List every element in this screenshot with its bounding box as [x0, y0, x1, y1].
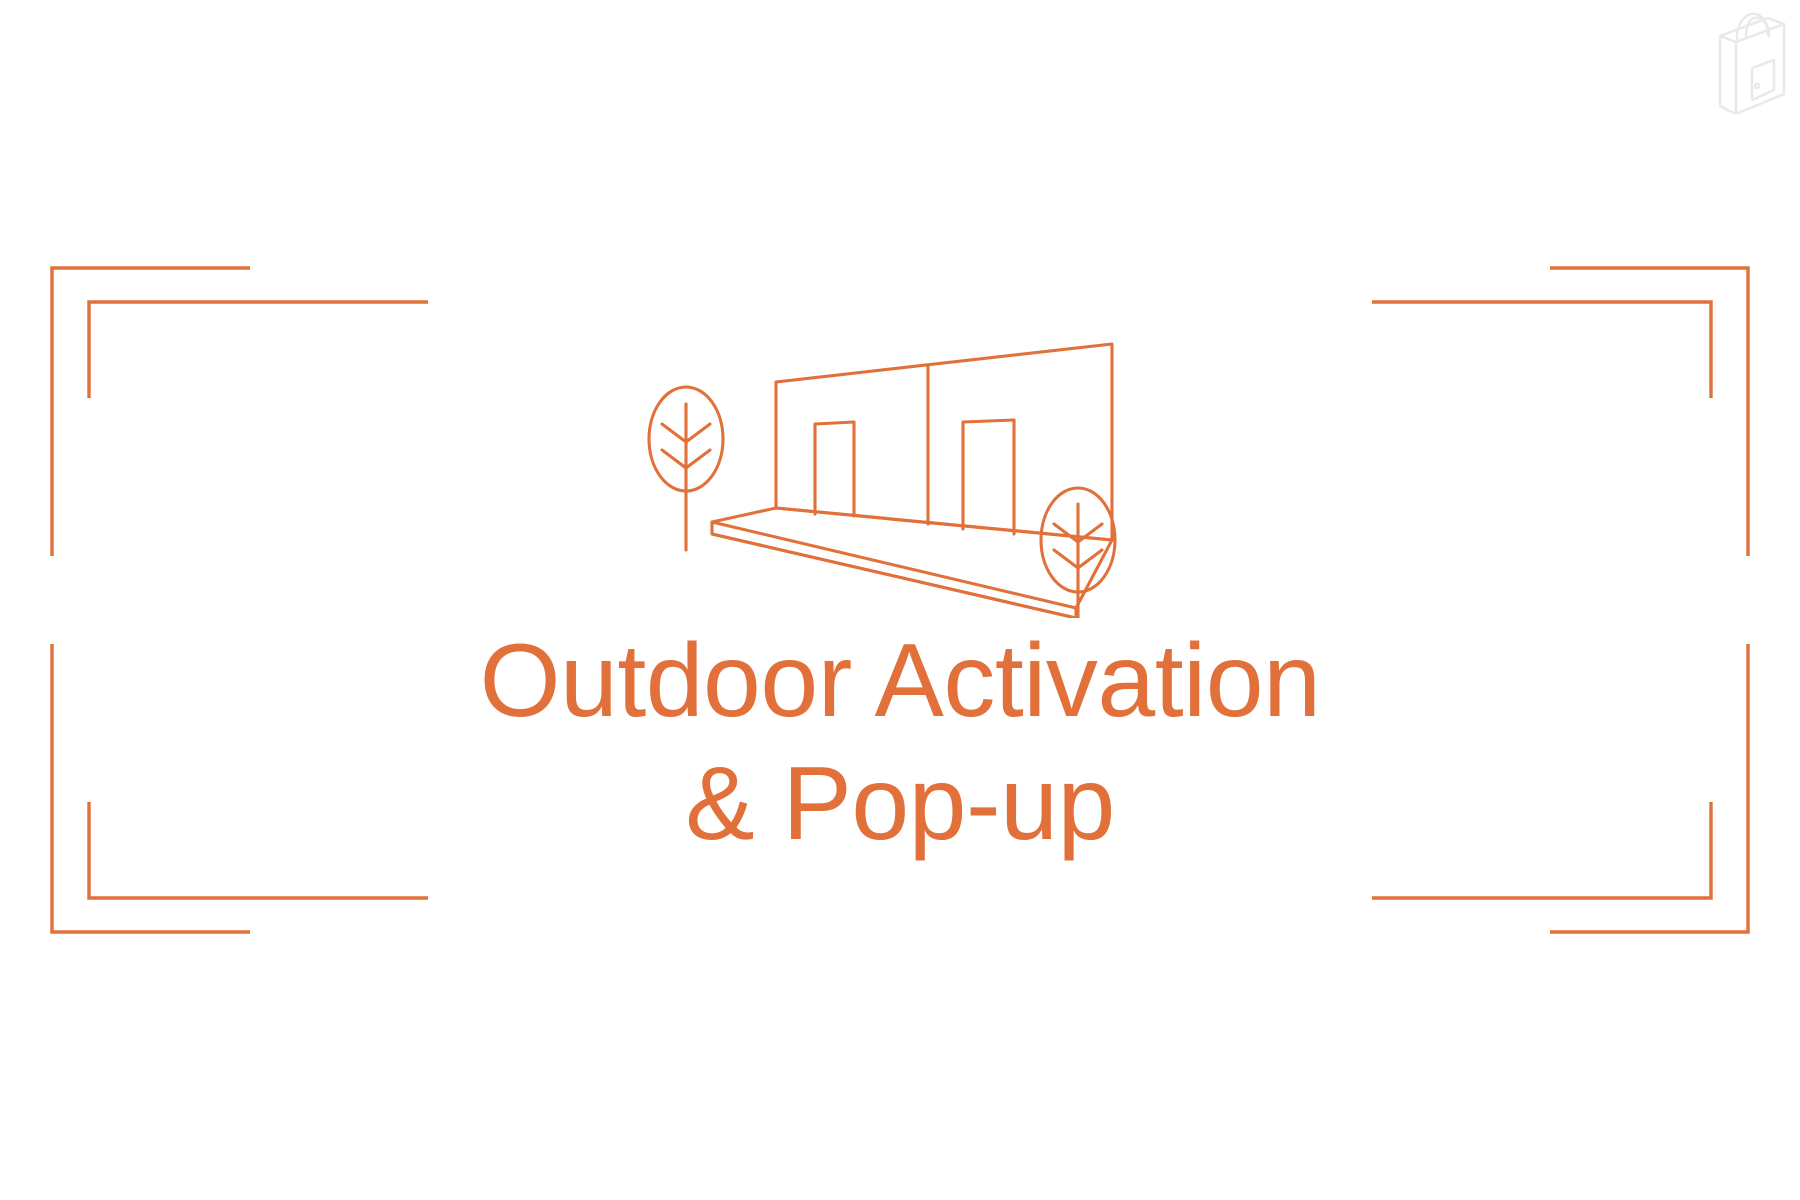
storefront-line-art — [640, 318, 1160, 618]
right-door-opening — [963, 420, 1014, 534]
deck-top-surface — [712, 508, 1112, 608]
storefront-wall — [776, 344, 1112, 540]
bracket-top-right-outer — [1550, 268, 1748, 556]
bracket-top-right-inner — [1372, 302, 1711, 398]
title-line-1: Outdoor Activation — [0, 620, 1800, 743]
left-tree-branch-3 — [662, 450, 686, 468]
title-line-2: & Pop-up — [0, 743, 1800, 866]
outdoor-storefront-illustration — [640, 318, 1160, 618]
shopping-bag-logo — [1696, 6, 1792, 114]
right-tree-branch-1 — [1054, 524, 1078, 542]
bracket-top-left-inner — [89, 302, 428, 398]
left-tree-branch-2 — [686, 424, 710, 442]
left-tree-branch-4 — [686, 450, 710, 468]
right-tree-branch-3 — [1054, 550, 1078, 568]
deck-bottom-edge — [712, 534, 1076, 618]
slide-canvas: Outdoor Activation & Pop-up — [0, 0, 1800, 1200]
shopping-bag-icon — [1696, 6, 1792, 114]
left-door-opening — [815, 422, 854, 516]
left-tree-branch-1 — [662, 424, 686, 442]
bracket-top-left-outer — [52, 268, 250, 556]
page-title: Outdoor Activation & Pop-up — [0, 620, 1800, 865]
